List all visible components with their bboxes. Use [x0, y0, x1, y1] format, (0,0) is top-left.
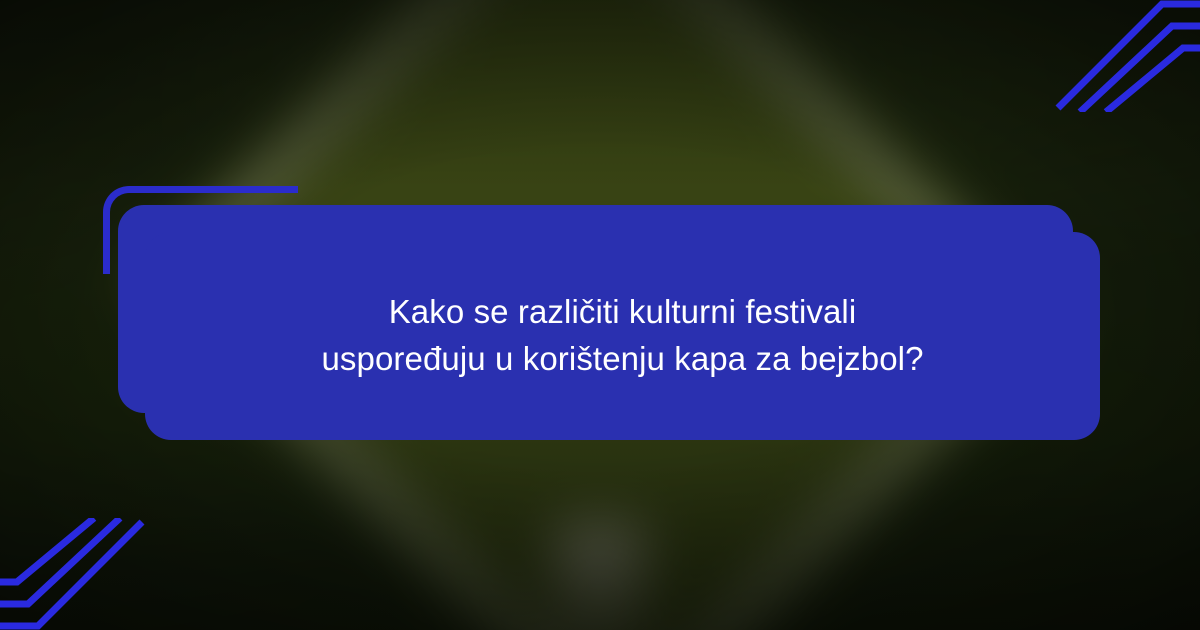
corner-lines-icon-top-right: [1050, 0, 1200, 112]
corner-lines-icon-bottom-left: [0, 518, 150, 630]
social-card-canvas: Kako se različiti kulturni festivali usp…: [0, 0, 1200, 630]
question-text: Kako se različiti kulturni festivali usp…: [228, 289, 1018, 383]
question-card[interactable]: Kako se različiti kulturni festivali usp…: [145, 232, 1100, 440]
